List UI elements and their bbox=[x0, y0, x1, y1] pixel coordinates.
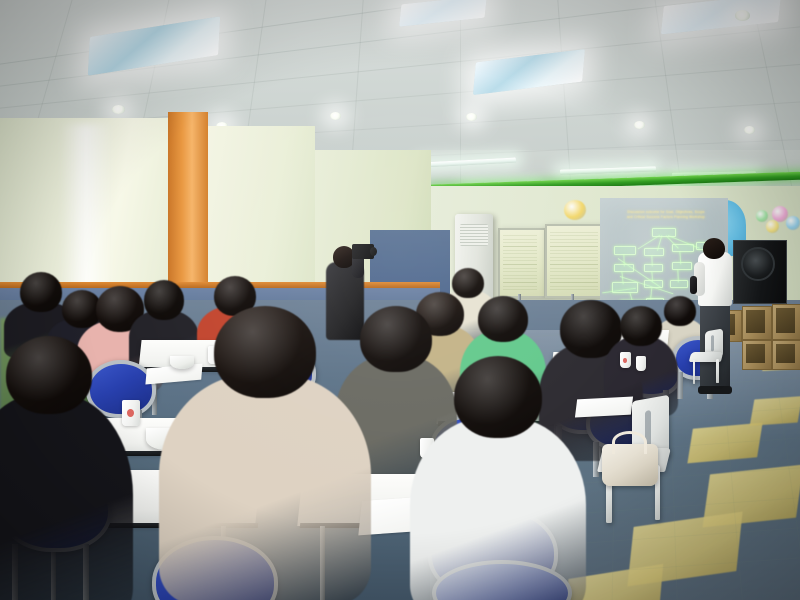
seminar-room-photo: Discussion outcome for Goal, Objectives,… bbox=[0, 0, 800, 600]
attendee-front-left-black-torso bbox=[0, 394, 133, 600]
attendee-front-center-cream-head bbox=[214, 306, 316, 398]
attendees-front-row bbox=[0, 0, 800, 600]
attendee-front-center-cream-torso bbox=[159, 374, 371, 600]
attendee-front-right-white-torso bbox=[410, 417, 586, 600]
attendee-front-left-black-head bbox=[6, 336, 92, 414]
attendee-front-right-white-head bbox=[454, 356, 542, 438]
